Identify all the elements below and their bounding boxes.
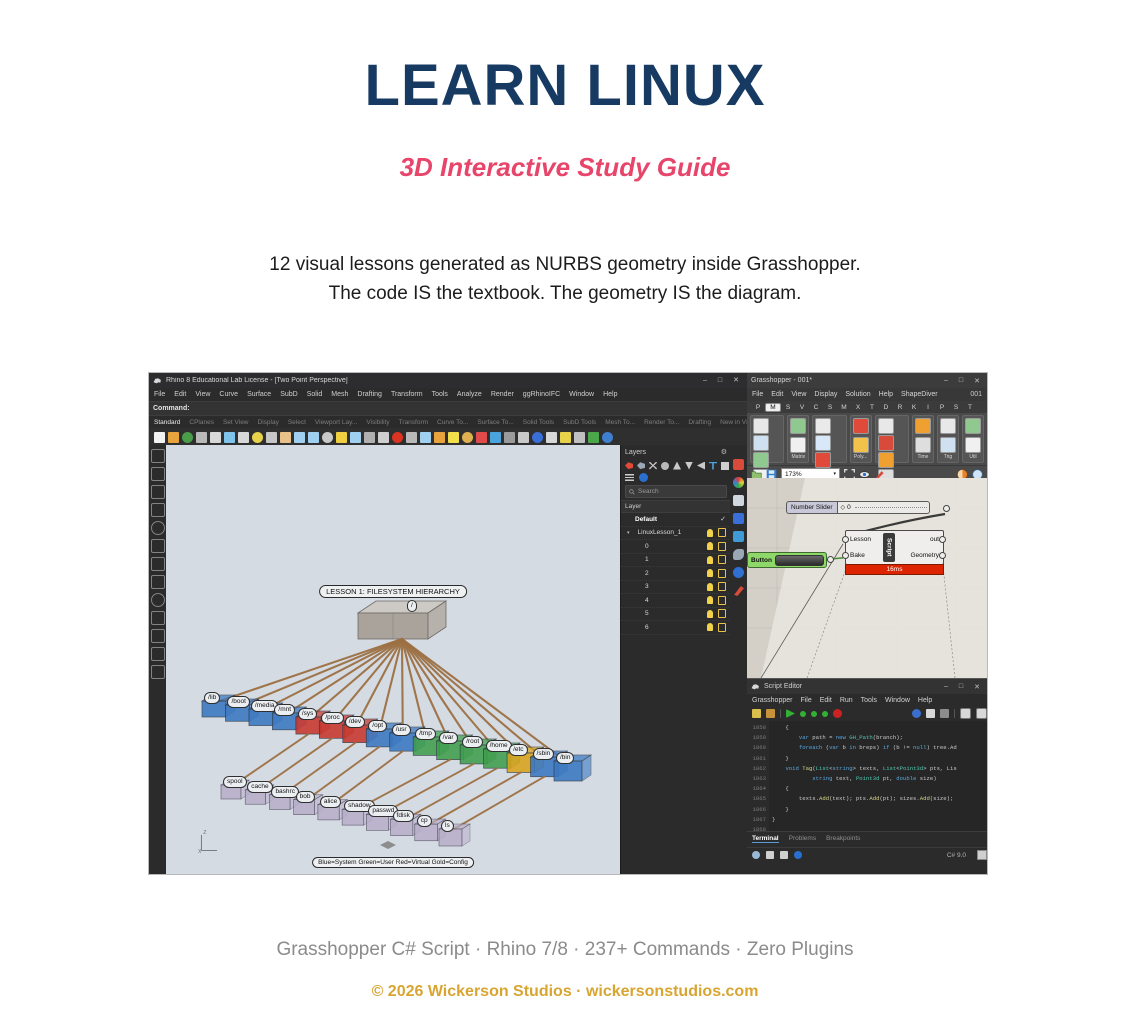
gh-ribbon-tab-0[interactable]: P (751, 404, 765, 411)
gh-ribbon-tab-7[interactable]: X (851, 404, 865, 411)
rhino-toolbar-icon-24[interactable] (490, 432, 501, 443)
layer-visibility-bulb-icon[interactable] (707, 529, 713, 537)
layer-name: 2 (627, 570, 649, 577)
script-editor-window-controls[interactable]: – □ ✕ (944, 683, 983, 691)
code-line-number: 1867 (747, 815, 769, 825)
gh-menu-help[interactable]: Help (879, 391, 893, 398)
minimize-icon[interactable]: – (703, 376, 707, 385)
rail-icon-display[interactable] (733, 495, 744, 506)
rhino-menu-window[interactable]: Window (569, 391, 594, 398)
gh-ribbon-group-script[interactable]: Script (875, 415, 909, 463)
rhino-toolbar-icon-23[interactable] (476, 432, 487, 443)
step-into-icon[interactable] (811, 711, 817, 717)
gh-ribbon-tab-3[interactable]: V (795, 404, 809, 411)
gh-group-cells (940, 418, 956, 454)
menu-icon[interactable] (625, 474, 634, 481)
number-slider-value: 0 (847, 504, 851, 511)
code-line[interactable]: } (769, 754, 987, 764)
gh-component-icon[interactable] (940, 418, 956, 434)
delete-layer-icon[interactable] (649, 462, 657, 470)
grasshopper-menubar[interactable]: FileEditViewDisplaySolutionHelpShapeDive… (747, 388, 987, 401)
help-icon[interactable] (794, 851, 802, 859)
rhino-tool-curve-icon[interactable] (151, 485, 165, 499)
rhino-tool-mesh-icon[interactable] (151, 629, 165, 643)
rhino-toolbar-tabs[interactable]: StandardCPlanesSet ViewDisplaySelectView… (149, 416, 747, 428)
grasshopper-window-controls[interactable]: – □ ✕ (944, 377, 983, 385)
rhino-menu-mesh[interactable]: Mesh (331, 391, 348, 398)
rail-icon-colors[interactable] (733, 477, 744, 488)
gh-ribbon-tab-10[interactable]: R (893, 404, 907, 411)
layer-controls[interactable] (707, 555, 731, 564)
minimize-icon[interactable]: – (944, 683, 948, 691)
rhino-command-line[interactable]: Command: (149, 401, 747, 416)
rhino-toolbar-icon-18[interactable] (406, 432, 417, 443)
rhino-toolbar-tab-renderto[interactable]: Render To... (644, 419, 679, 426)
layer-current-check-icon[interactable]: ✓ (720, 515, 726, 523)
save-icon[interactable] (752, 709, 761, 718)
gh-ribbon-group-operators[interactable]: Operators (812, 415, 846, 463)
rhino-toolbar-tab-transform[interactable]: Transform (399, 419, 428, 426)
rhino-tool-circle-icon[interactable] (151, 521, 165, 535)
rhino-window-controls[interactable]: – □ ✕ (703, 376, 743, 385)
gh-group-caption: Matrix (790, 454, 806, 460)
layer-lock-icon[interactable] (718, 528, 726, 537)
slider-output-port[interactable] (943, 505, 950, 512)
rhino-right-rail[interactable] (730, 445, 747, 874)
gh-document-tab[interactable]: 001 (970, 391, 987, 398)
gh-ribbon-group-domain[interactable]: Domain (750, 415, 784, 463)
gh-component-icon[interactable] (853, 437, 869, 453)
rhino-toolbar-icon-0[interactable] (154, 432, 165, 443)
rail-icon-lights[interactable] (733, 585, 744, 596)
gh-ribbon-group-trig[interactable]: Trig (937, 415, 959, 463)
rhino-toolbar-icon-12[interactable] (322, 432, 333, 443)
script-editor-window: Script Editor – □ ✕ GrasshopperFileEditR… (747, 678, 987, 874)
layer-visibility-bulb-icon[interactable] (707, 569, 713, 577)
rhino-toolbar-icon-5[interactable] (224, 432, 235, 443)
layer-row[interactable]: 3 (621, 581, 731, 595)
rhino-toolbar-icon-19[interactable] (420, 432, 431, 443)
sed-menu-edit[interactable]: Edit (820, 697, 832, 704)
gear-icon[interactable]: ⚙ (721, 448, 727, 456)
gh-group-cells (853, 418, 869, 454)
rhino-toolbar-tab-standard[interactable]: Standard (154, 419, 180, 426)
gh-component-icon[interactable] (815, 452, 831, 468)
number-slider-track[interactable]: ◇ 0 (838, 501, 930, 514)
minimize-icon[interactable]: – (944, 377, 948, 385)
layer-lock-icon[interactable] (718, 542, 726, 551)
layer-controls[interactable] (707, 528, 731, 537)
layer-row[interactable]: 0 (621, 540, 731, 554)
code-line[interactable]: var path = new GH_Path(branch); (769, 733, 987, 743)
rhino-toolbar-icon-10[interactable] (294, 432, 305, 443)
gh-component-icon[interactable] (790, 437, 806, 453)
divider (780, 709, 781, 718)
rail-icon-properties[interactable] (733, 513, 744, 524)
layers-toolbar-secondary[interactable] (621, 472, 731, 483)
rhino-toolbar-icon-30[interactable] (574, 432, 585, 443)
rhino-toolbar-icon-26[interactable] (518, 432, 529, 443)
rhino-toolbar-icon-20[interactable] (434, 432, 445, 443)
rhino-tool-point-icon[interactable] (151, 593, 165, 607)
rhino-tool-polyline-icon[interactable] (151, 503, 165, 517)
grid-layer-icon[interactable] (721, 462, 729, 470)
gh-ribbon-tab-13[interactable]: P (935, 404, 949, 411)
rhino-toolbar-icon-9[interactable] (280, 432, 291, 443)
layer-visibility-bulb-icon[interactable] (707, 583, 713, 591)
layers-toolbar[interactable] (621, 459, 731, 472)
sed-menu-run[interactable]: Run (840, 697, 853, 704)
close-icon[interactable]: ✕ (974, 683, 980, 691)
gh-group-cells (915, 418, 931, 454)
layer-lock-icon[interactable] (718, 596, 726, 605)
layer-row[interactable]: 6 (621, 621, 731, 635)
page-title: LEARN LINUX (0, 52, 1130, 119)
rhino-toolbar-tab-viewportlay[interactable]: Viewport Lay... (315, 419, 357, 426)
sed-menu-help[interactable]: Help (918, 697, 932, 704)
layers-column-label: Layer (625, 503, 641, 510)
rhino-tool-arc-icon[interactable] (151, 557, 165, 571)
rhino-tool-ellipse-icon[interactable] (151, 539, 165, 553)
rhino-menu-tools[interactable]: Tools (432, 391, 448, 398)
gh-group-cells (965, 418, 981, 454)
gh-ribbon-group-matrix[interactable]: Matrix (787, 415, 809, 463)
gh-component-icon[interactable] (790, 418, 806, 434)
rhino-menu-transform[interactable]: Transform (391, 391, 423, 398)
layer-name: Default (627, 516, 657, 523)
rhino-menu-view[interactable]: View (195, 391, 210, 398)
code-line[interactable]: { (769, 784, 987, 794)
run-icon[interactable] (786, 709, 795, 718)
move-left-icon[interactable] (697, 462, 705, 470)
button-output-port[interactable] (827, 556, 834, 563)
node-label-dir: /lib (204, 692, 220, 704)
gh-ribbon-group-time[interactable]: Time (912, 415, 934, 463)
rhino-toolbar-icon-15[interactable] (364, 432, 375, 443)
layer-lock-icon[interactable] (718, 623, 726, 632)
script-editor-code-area[interactable]: 1858185918601861186218631864186518661867… (747, 721, 987, 831)
rhino-tool-arrow-icon[interactable] (151, 449, 165, 463)
code-line[interactable]: } (769, 805, 987, 815)
new-layer-icon[interactable] (625, 462, 633, 470)
gh-ribbon-tab-5[interactable]: S (823, 404, 837, 411)
gh-component-icon[interactable] (753, 452, 769, 468)
step-out-icon[interactable] (822, 711, 828, 717)
sed-tab-problems[interactable]: Problems (789, 835, 816, 842)
split-vertical-icon[interactable] (960, 708, 971, 719)
script-editor-toolbar[interactable] (747, 706, 987, 722)
button-component[interactable]: Button (747, 552, 827, 568)
rhino-toolbar-icon-25[interactable] (504, 432, 515, 443)
code-line[interactable]: { (769, 723, 987, 733)
lesson-title-label: LESSON 1: FILESYSTEM HIERARCHY (319, 585, 467, 598)
rhino-tool-surface-icon[interactable] (151, 647, 165, 661)
gh-ribbon-tab-9[interactable]: D (879, 404, 893, 411)
code-line[interactable]: string text, Point3d pt, double size) (769, 774, 987, 784)
rhino-tool-dot-icon[interactable] (151, 467, 165, 481)
node-label-leaf: cache (247, 781, 272, 793)
step-over-icon[interactable] (800, 711, 806, 717)
gh-component-icon[interactable] (753, 435, 769, 451)
gh-menu-solution[interactable]: Solution (845, 391, 870, 398)
layer-controls[interactable] (707, 623, 731, 632)
gh-component-icon[interactable] (915, 418, 931, 434)
gh-ribbon-group-poly[interactable]: Poly... (850, 415, 872, 463)
gh-group-caption: Trig (940, 454, 956, 460)
maximize-icon[interactable]: □ (959, 377, 963, 385)
split-horizontal-icon[interactable] (976, 708, 987, 719)
rhino-toolbar-tab-curveto[interactable]: Curve To... (437, 419, 468, 426)
stop-icon[interactable] (833, 709, 842, 718)
gh-ribbon-tab-11[interactable]: K (907, 404, 921, 411)
node-label-dir: /sbin (533, 748, 555, 760)
rhino-toolbar-tab-cplanes[interactable]: CPlanes (189, 419, 214, 426)
code-lines[interactable]: { var path = new GH_Path(branch); foreac… (769, 721, 987, 831)
rhino-side-toolbar[interactable] (149, 445, 166, 874)
maximize-icon[interactable]: □ (959, 683, 963, 691)
rhino-toolbar-icon-16[interactable] (378, 432, 389, 443)
app-screenshot: Rhino 8 Educational Lab License - [Two P… (149, 373, 987, 874)
script-output-out[interactable]: out (930, 536, 939, 543)
watch-icon[interactable] (940, 709, 949, 718)
sed-menu-grasshopper[interactable]: Grasshopper (752, 697, 792, 704)
rhino-toolbar-icon-32[interactable] (602, 432, 613, 443)
layer-controls[interactable] (707, 582, 731, 591)
script-editor-status-area: TerminalProblemsBreakpoints C# 9.0 (747, 831, 987, 874)
layer-visibility-bulb-icon[interactable] (707, 556, 713, 564)
script-component-tab[interactable]: Script (883, 533, 895, 562)
script-component[interactable]: Lesson out Bake Geometry Script (845, 530, 944, 565)
code-line[interactable]: void Tag(List<string> texts, List<Point3… (769, 764, 987, 774)
gh-component-icon[interactable] (878, 435, 894, 451)
script-output-port-geometry[interactable] (939, 552, 946, 559)
button-toggle-knob[interactable] (775, 555, 824, 566)
rhino-toolbar-icon-1[interactable] (168, 432, 179, 443)
rhino-viewport[interactable]: Two Point Perspective ▾ LESSON 1: FILESY… (166, 445, 620, 874)
rhino-menu-ggrhinoifc[interactable]: ggRhinoIFC (523, 391, 560, 398)
gh-component-icon[interactable] (940, 437, 956, 453)
layer-lock-icon[interactable] (718, 555, 726, 564)
rhino-toolbar-icon-29[interactable] (560, 432, 571, 443)
layer-controls[interactable] (707, 609, 731, 618)
gh-ribbon-tab-4[interactable]: C (809, 404, 823, 411)
layer-lock-icon[interactable] (718, 582, 726, 591)
script-input-port-lesson[interactable] (842, 536, 849, 543)
inspect-icon[interactable] (926, 709, 935, 718)
gh-menu-edit[interactable]: Edit (771, 391, 783, 398)
search-icon (629, 489, 635, 495)
layer-row[interactable]: 1 (621, 554, 731, 568)
rhino-toolbar-tab-solidtools[interactable]: Solid Tools (523, 419, 554, 426)
gh-component-icon[interactable] (753, 418, 769, 434)
gh-ribbon-tab-14[interactable]: S (949, 404, 963, 411)
gh-component-icon[interactable] (878, 418, 894, 434)
rhino-menu-file[interactable]: File (154, 391, 165, 398)
code-line-number: 1860 (747, 743, 769, 753)
gh-group-caption: Time (915, 454, 931, 460)
gh-menu-file[interactable]: File (752, 391, 763, 398)
copy-icon[interactable] (780, 851, 788, 859)
rhino-toolbar-icon-2[interactable] (182, 432, 193, 443)
rhino-toolbar-icon-7[interactable] (252, 432, 263, 443)
gh-ribbon-tab-2[interactable]: S (781, 404, 795, 411)
rhino-menu-curve[interactable]: Curve (219, 391, 238, 398)
move-up-icon[interactable] (673, 462, 681, 470)
rhino-tool-rect-icon[interactable] (151, 575, 165, 589)
rhino-toolbar-tab-display[interactable]: Display (258, 419, 279, 426)
gh-component-icon[interactable] (815, 418, 831, 434)
grasshopper-canvas[interactable]: Number Slider ◇ 0 Button (747, 478, 987, 678)
gh-component-icon[interactable] (878, 452, 894, 468)
rhino-toolbar-tab-newinv8[interactable]: New in V8 (720, 419, 747, 426)
node-label-dir: /boot (227, 696, 249, 708)
gh-ribbon-tab-1[interactable]: M (765, 403, 781, 412)
rhino-toolbar-icon-14[interactable] (350, 432, 361, 443)
layer-lock-icon[interactable] (718, 609, 726, 618)
rhino-menu-drafting[interactable]: Drafting (357, 391, 382, 398)
layer-visibility-bulb-icon[interactable] (707, 610, 713, 618)
gh-menu-display[interactable]: Display (814, 391, 837, 398)
search-icon[interactable] (752, 851, 760, 859)
rhino-toolbar-icon-17[interactable] (392, 432, 403, 443)
rhino-toolbar-tab-surfaceto[interactable]: Surface To... (477, 419, 513, 426)
gh-ribbon-tab-8[interactable]: T (865, 404, 879, 411)
rail-icon-materials[interactable] (733, 567, 744, 578)
package-icon[interactable] (766, 709, 775, 718)
gh-component-icon[interactable] (815, 435, 831, 451)
rhino-toolbar-tab-visibility[interactable]: Visibility (366, 419, 389, 426)
grasshopper-ribbon-tabs[interactable]: PMSVCSMXTDRKIPST (747, 401, 987, 413)
script-input-bake[interactable]: Bake (850, 552, 865, 559)
rhino-menu-help[interactable]: Help (603, 391, 617, 398)
sed-tab-breakpoints[interactable]: Breakpoints (826, 835, 860, 842)
maximize-icon[interactable]: □ (718, 376, 722, 385)
filter-layer-icon[interactable] (661, 462, 669, 470)
rhino-toolbar-icon-28[interactable] (546, 432, 557, 443)
rhino-toolbar-icon-8[interactable] (266, 432, 277, 443)
rhino-toolbar-tab-setview[interactable]: Set View (223, 419, 249, 426)
node-label-dir: /etc (509, 744, 527, 756)
rhino-menu-edit[interactable]: Edit (174, 391, 186, 398)
rhino-toolbar-icon-3[interactable] (196, 432, 207, 443)
expand-arrow-icon[interactable]: ▾ (627, 530, 630, 536)
rhino-toolbar-tab-select[interactable]: Select (288, 419, 306, 426)
rhino-tool-solid-icon[interactable] (151, 665, 165, 679)
number-slider-component[interactable]: Number Slider ◇ 0 (786, 501, 930, 514)
gh-component-icon[interactable] (915, 437, 931, 453)
code-line-number: 1862 (747, 764, 769, 774)
gh-component-icon[interactable] (965, 418, 981, 434)
debug-icon[interactable] (912, 709, 921, 718)
layer-visibility-bulb-icon[interactable] (707, 542, 713, 550)
gh-menu-view[interactable]: View (791, 391, 806, 398)
grasshopper-window-title: Grasshopper - 001* (751, 377, 812, 384)
layer-name: 4 (627, 597, 649, 604)
rhino-toolbar-icon-27[interactable] (532, 432, 543, 443)
sed-menu-window[interactable]: Window (885, 697, 910, 704)
rhino-menu-render[interactable]: Render (491, 391, 514, 398)
gh-ribbon-tab-15[interactable]: T (963, 404, 977, 411)
rhino-toolbar-icon-21[interactable] (448, 432, 459, 443)
rhino-toolbar-icon-13[interactable] (336, 432, 347, 443)
script-editor-menubar[interactable]: GrasshopperFileEditRunToolsWindowHelp (747, 694, 987, 706)
gh-ribbon-tab-6[interactable]: M (837, 404, 851, 411)
rhino-toolbar-icon-4[interactable] (210, 432, 221, 443)
layer-controls[interactable] (707, 596, 731, 605)
layer-row[interactable]: Default✓ (621, 513, 731, 527)
close-icon[interactable]: ✕ (733, 376, 739, 385)
gh-component-icon[interactable] (853, 418, 869, 434)
layer-row[interactable]: ▾LinuxLesson_1 (621, 527, 731, 541)
gh-menu-shapediver[interactable]: ShapeDiver (901, 391, 938, 398)
rhino-menu-analyze[interactable]: Analyze (457, 391, 482, 398)
sed-menu-file[interactable]: File (800, 697, 811, 704)
code-line[interactable]: texts.Add(text); pts.Add(pt); sizes.Add(… (769, 794, 987, 804)
chevron-down-icon[interactable]: ▾ (833, 471, 839, 477)
new-sublayer-icon[interactable] (637, 462, 645, 470)
script-output-geometry[interactable]: Geometry (910, 552, 939, 559)
layer-visibility-bulb-icon[interactable] (707, 623, 713, 631)
rhino-toolbar-icon-11[interactable] (308, 432, 319, 443)
script-output-port-out[interactable] (939, 536, 946, 543)
layer-row[interactable]: 4 (621, 594, 731, 608)
grasshopper-ribbon[interactable]: DomainMatrixOperatorsPoly...ScriptTimeTr… (747, 413, 987, 465)
script-input-port-bake[interactable] (842, 552, 849, 559)
sed-tab-terminal[interactable]: Terminal (752, 835, 779, 843)
canvas-surface[interactable]: Number Slider ◇ 0 Button (747, 478, 987, 678)
file-icon[interactable] (766, 851, 774, 859)
layer-controls[interactable] (707, 569, 731, 578)
rhino-toolbar-tab-subdtools[interactable]: SubD Tools (563, 419, 596, 426)
code-line[interactable]: } (769, 815, 987, 825)
script-editor-bottom-tabs[interactable]: TerminalProblemsBreakpoints (747, 832, 987, 845)
rhino-toolbar-tab-meshto[interactable]: Mesh To... (605, 419, 635, 426)
gh-component-icon[interactable] (965, 437, 981, 453)
svg-text:X: X (198, 849, 202, 854)
code-line[interactable]: foreach (var b in breps) if (b != null) … (769, 743, 987, 753)
rhino-toolbar-tab-drafting[interactable]: Drafting (688, 419, 711, 426)
rail-icon-named-views[interactable] (733, 549, 744, 560)
layer-row[interactable]: 2 (621, 567, 731, 581)
layer-lock-icon[interactable] (718, 569, 726, 578)
rail-icon-layers[interactable] (733, 531, 744, 542)
move-down-icon[interactable] (685, 462, 693, 470)
rhino-menu-subd[interactable]: SubD (280, 391, 298, 398)
sed-menu-tools[interactable]: Tools (861, 697, 877, 704)
rhino-menu-surface[interactable]: Surface (247, 391, 271, 398)
rhino-menu-solid[interactable]: Solid (307, 391, 323, 398)
rail-icon-render[interactable] (733, 459, 744, 470)
rhino-menubar[interactable]: FileEditViewCurveSurfaceSubDSolidMeshDra… (149, 388, 747, 401)
rhino-toolbar-icon-22[interactable] (462, 432, 473, 443)
close-icon[interactable]: ✕ (974, 377, 980, 385)
rhino-tool-freeform-icon[interactable] (151, 611, 165, 625)
rhino-toolbar-icon-31[interactable] (588, 432, 599, 443)
layers-list[interactable]: Default✓▾LinuxLesson_10123456 (621, 513, 731, 635)
script-input-lesson[interactable]: Lesson (850, 536, 871, 543)
help-icon[interactable] (639, 473, 648, 482)
layer-visibility-bulb-icon[interactable] (707, 596, 713, 604)
text-layer-icon[interactable] (709, 462, 717, 470)
rhino-toolbar-icon-6[interactable] (238, 432, 249, 443)
layer-controls[interactable] (707, 542, 731, 551)
layer-row[interactable]: 5 (621, 608, 731, 622)
slider-handle-icon[interactable]: ◇ (841, 504, 846, 511)
layer-search-input[interactable]: Search (625, 485, 727, 498)
gh-ribbon-tab-12[interactable]: I (921, 404, 935, 411)
layers-panel-header: Layers ⚙ (621, 445, 731, 459)
gh-ribbon-group-util[interactable]: Util (962, 415, 984, 463)
